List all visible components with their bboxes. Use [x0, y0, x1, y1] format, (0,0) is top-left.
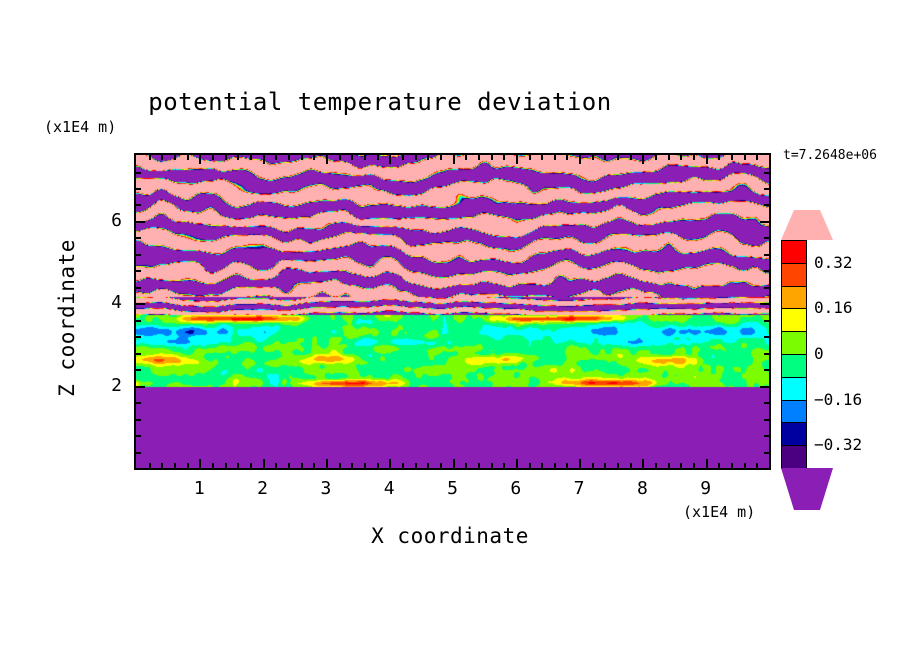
x-tick-minor-top: [161, 155, 163, 160]
y-tick-minor: [136, 369, 141, 371]
y-tick-minor: [136, 204, 141, 206]
colorbar-band: [781, 354, 807, 378]
colorbar-tick-label: 0.16: [814, 298, 853, 317]
x-tick-minor: [529, 463, 531, 468]
x-tick-minor: [237, 463, 239, 468]
colorbar-band: [781, 377, 807, 401]
colorbar-tick-label: 0: [814, 344, 824, 363]
x-tick-minor: [288, 463, 290, 468]
x-tick-major: [642, 459, 644, 468]
contour-plot-area: [134, 153, 771, 470]
x-tick-minor: [149, 463, 151, 468]
colorbar-under-arrow: [781, 468, 833, 510]
y-tick-label: 6: [96, 210, 122, 231]
x-tick-label: 9: [691, 478, 721, 499]
colorbar-tick-label: 0.32: [814, 253, 853, 272]
x-tick-minor-top: [250, 155, 252, 160]
x-tick-minor: [604, 463, 606, 468]
x-tick-minor: [402, 463, 404, 468]
colorbar-band: [781, 445, 807, 469]
x-tick-minor: [503, 463, 505, 468]
x-tick-minor-top: [402, 155, 404, 160]
x-tick-label: 8: [627, 478, 657, 499]
x-tick-minor: [566, 463, 568, 468]
x-tick-minor-top: [718, 155, 720, 160]
y-tick-minor: [136, 188, 141, 190]
x-tick-minor-top: [655, 155, 657, 160]
x-tick-minor: [313, 463, 315, 468]
x-tick-minor: [465, 463, 467, 468]
x-tick-major-top: [706, 155, 708, 164]
y-tick-major-right: [760, 221, 769, 223]
y-tick-major-right: [760, 303, 769, 305]
x-tick-minor: [744, 463, 746, 468]
y-tick-major-right: [760, 386, 769, 388]
y-tick-minor-right: [764, 336, 769, 338]
x-tick-minor-top: [478, 155, 480, 160]
y-tick-minor: [136, 353, 141, 355]
y-tick-label: 2: [96, 375, 122, 396]
y-tick-minor: [136, 336, 141, 338]
x-tick-minor-top: [554, 155, 556, 160]
y-tick-minor-right: [764, 435, 769, 437]
x-tick-minor-top: [301, 155, 303, 160]
y-axis-title: Z coordinate: [55, 188, 79, 448]
y-tick-minor-right: [764, 204, 769, 206]
y-tick-minor-right: [764, 369, 769, 371]
x-tick-label: 3: [311, 478, 341, 499]
x-tick-major: [263, 459, 265, 468]
x-tick-minor-top: [604, 155, 606, 160]
x-tick-minor-top: [377, 155, 379, 160]
x-tick-minor: [364, 463, 366, 468]
x-tick-minor-top: [339, 155, 341, 160]
x-tick-minor: [630, 463, 632, 468]
x-tick-major: [579, 459, 581, 468]
colorbar-band: [781, 286, 807, 310]
x-tick-minor: [415, 463, 417, 468]
x-tick-minor-top: [212, 155, 214, 160]
x-tick-minor: [731, 463, 733, 468]
x-tick-minor-top: [440, 155, 442, 160]
colorbar-band: [781, 308, 807, 332]
y-tick-major: [136, 221, 145, 223]
y-axis-unit-label: (x1E4 m): [44, 118, 116, 136]
y-tick-minor-right: [764, 402, 769, 404]
x-tick-minor: [377, 463, 379, 468]
x-tick-minor-top: [541, 155, 543, 160]
x-tick-major: [326, 459, 328, 468]
x-tick-minor: [187, 463, 189, 468]
colorbar-band: [781, 331, 807, 355]
x-tick-minor-top: [364, 155, 366, 160]
x-tick-minor-top: [427, 155, 429, 160]
x-tick-major: [199, 459, 201, 468]
x-tick-minor-top: [566, 155, 568, 160]
y-tick-minor-right: [764, 452, 769, 454]
colorbar-band: [781, 263, 807, 287]
x-tick-minor: [440, 463, 442, 468]
x-tick-minor: [541, 463, 543, 468]
y-tick-minor: [136, 402, 141, 404]
x-tick-minor-top: [503, 155, 505, 160]
x-tick-minor-top: [149, 155, 151, 160]
y-tick-minor: [136, 452, 141, 454]
x-tick-minor: [617, 463, 619, 468]
x-tick-minor: [225, 463, 227, 468]
x-tick-minor: [212, 463, 214, 468]
x-tick-major-top: [516, 155, 518, 164]
colorbar: [781, 240, 807, 468]
y-tick-minor-right: [764, 419, 769, 421]
y-tick-label: 4: [96, 292, 122, 313]
x-tick-minor: [718, 463, 720, 468]
x-tick-major-top: [453, 155, 455, 164]
colorbar-band: [781, 422, 807, 446]
x-tick-major: [389, 459, 391, 468]
colorbar-over-arrow: [781, 210, 833, 240]
y-tick-minor-right: [764, 270, 769, 272]
chart-title: potential temperature deviation: [0, 88, 760, 116]
x-tick-minor: [693, 463, 695, 468]
x-tick-major-top: [199, 155, 201, 164]
x-tick-minor: [592, 463, 594, 468]
x-tick-minor-top: [693, 155, 695, 160]
x-tick-minor-top: [617, 155, 619, 160]
y-tick-minor-right: [764, 287, 769, 289]
x-tick-minor: [161, 463, 163, 468]
x-tick-minor: [351, 463, 353, 468]
x-tick-minor-top: [237, 155, 239, 160]
y-tick-major: [136, 303, 145, 305]
x-tick-minor: [478, 463, 480, 468]
colorbar-tick-label: −0.32: [814, 435, 862, 454]
y-tick-minor-right: [764, 172, 769, 174]
x-tick-label: 5: [438, 478, 468, 499]
x-tick-minor-top: [465, 155, 467, 160]
x-tick-major-top: [263, 155, 265, 164]
y-tick-minor: [136, 237, 141, 239]
y-tick-minor: [136, 419, 141, 421]
x-tick-minor-top: [288, 155, 290, 160]
x-tick-major-top: [642, 155, 644, 164]
x-tick-label: 2: [248, 478, 278, 499]
y-tick-major: [136, 386, 145, 388]
x-tick-minor-top: [529, 155, 531, 160]
y-tick-minor: [136, 320, 141, 322]
y-tick-minor-right: [764, 254, 769, 256]
x-tick-minor: [339, 463, 341, 468]
x-tick-minor-top: [756, 155, 758, 160]
x-tick-minor-top: [491, 155, 493, 160]
x-tick-major: [706, 459, 708, 468]
colorbar-band: [781, 400, 807, 424]
x-tick-major: [516, 459, 518, 468]
x-tick-minor-top: [744, 155, 746, 160]
x-axis-unit-label: (x1E4 m): [683, 503, 755, 521]
x-tick-minor: [680, 463, 682, 468]
y-tick-minor-right: [764, 188, 769, 190]
x-tick-minor-top: [592, 155, 594, 160]
x-tick-label: 1: [184, 478, 214, 499]
x-tick-minor-top: [351, 155, 353, 160]
x-tick-minor-top: [275, 155, 277, 160]
x-tick-minor-top: [680, 155, 682, 160]
y-tick-minor: [136, 270, 141, 272]
colorbar-tick-label: −0.16: [814, 390, 862, 409]
x-tick-minor: [301, 463, 303, 468]
x-tick-minor: [275, 463, 277, 468]
x-tick-minor-top: [313, 155, 315, 160]
y-tick-minor-right: [764, 237, 769, 239]
x-tick-minor-top: [225, 155, 227, 160]
x-axis-title: X coordinate: [280, 524, 620, 548]
x-tick-minor-top: [187, 155, 189, 160]
x-tick-minor: [756, 463, 758, 468]
x-tick-minor: [655, 463, 657, 468]
x-tick-minor: [491, 463, 493, 468]
x-tick-minor-top: [415, 155, 417, 160]
x-tick-label: 7: [564, 478, 594, 499]
x-tick-major-top: [389, 155, 391, 164]
y-tick-minor: [136, 254, 141, 256]
y-tick-minor-right: [764, 320, 769, 322]
y-tick-minor-right: [764, 353, 769, 355]
x-tick-minor: [250, 463, 252, 468]
x-tick-minor: [427, 463, 429, 468]
y-tick-minor: [136, 172, 141, 174]
time-annotation: t=7.2648e+06: [783, 148, 877, 163]
y-tick-minor: [136, 435, 141, 437]
x-tick-major: [453, 459, 455, 468]
x-tick-minor-top: [731, 155, 733, 160]
colorbar-band: [781, 240, 807, 264]
x-tick-label: 4: [374, 478, 404, 499]
x-tick-minor-top: [668, 155, 670, 160]
x-tick-label: 6: [501, 478, 531, 499]
x-tick-major-top: [579, 155, 581, 164]
x-tick-minor-top: [174, 155, 176, 160]
x-tick-minor: [174, 463, 176, 468]
x-tick-minor: [668, 463, 670, 468]
contour-field-canvas: [136, 155, 769, 468]
x-tick-minor-top: [630, 155, 632, 160]
x-tick-major-top: [326, 155, 328, 164]
x-tick-minor: [554, 463, 556, 468]
y-tick-minor: [136, 287, 141, 289]
